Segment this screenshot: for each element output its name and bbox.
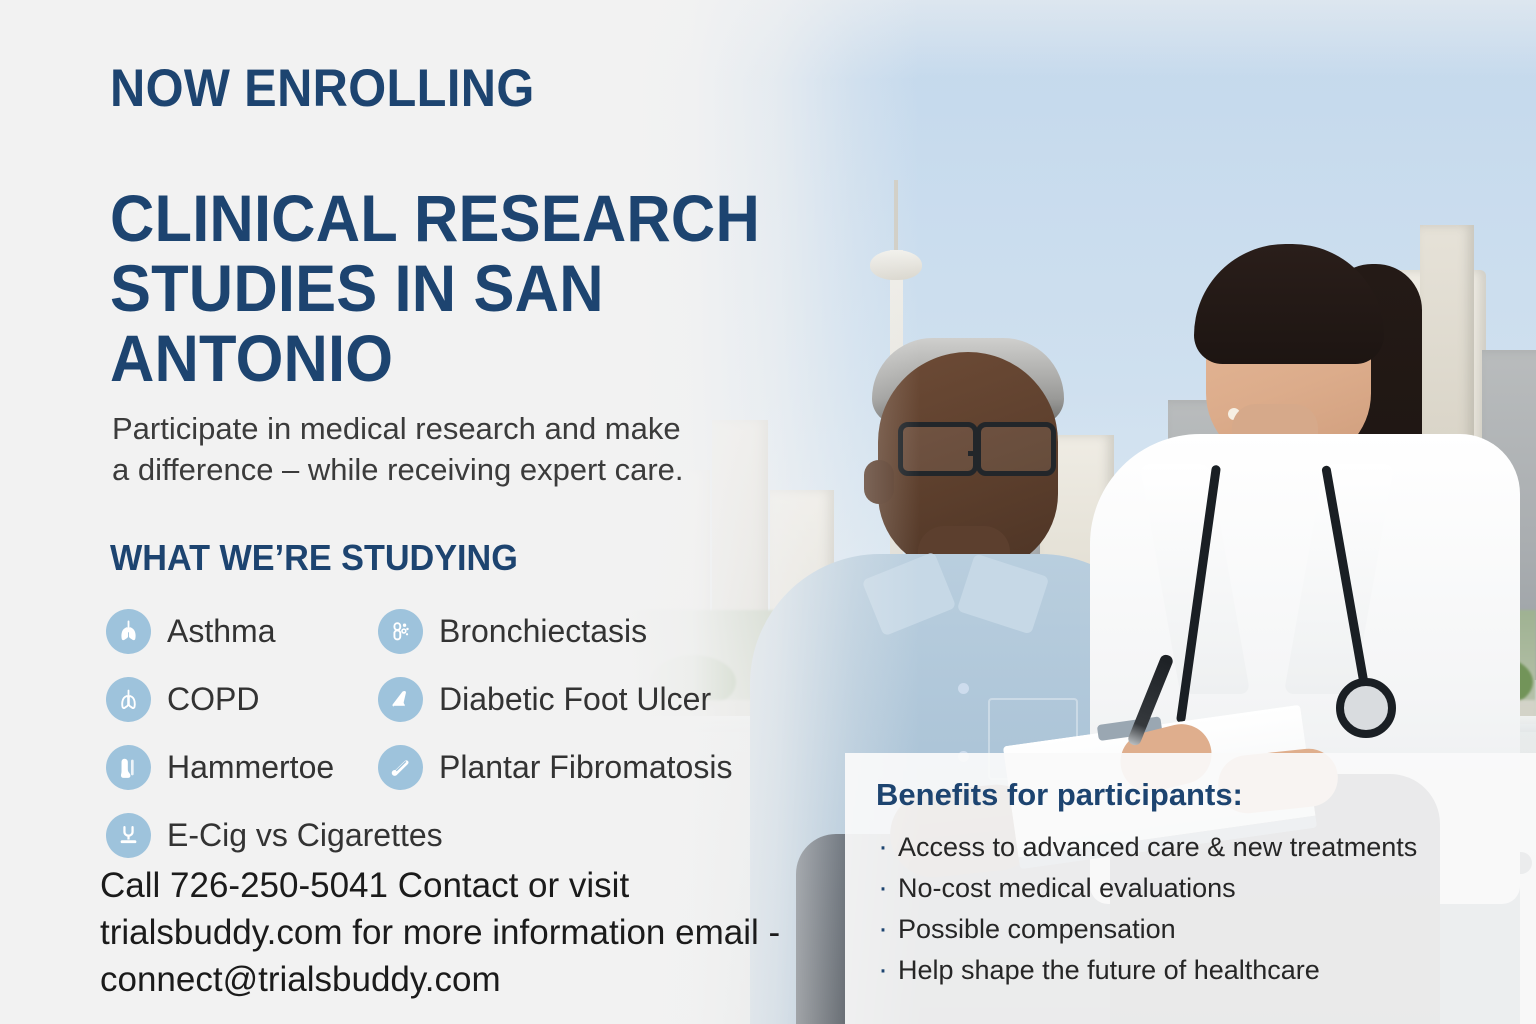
benefit-item: No-cost medical evaluations <box>876 868 1536 909</box>
condition-item-ecig-vs-cigarettes[interactable]: E-Cig vs Cigarettes <box>106 801 443 869</box>
condition-label: Hammertoe <box>167 749 334 786</box>
text-column: NOW ENROLLING CLINICAL RESEARCH STUDIES … <box>0 0 820 1024</box>
plantar-fascia-icon <box>378 745 423 790</box>
condition-label: Bronchiectasis <box>439 613 647 650</box>
condition-item-diabetic-foot-ulcer[interactable]: Diabetic Foot Ulcer <box>378 665 732 733</box>
condition-label: Diabetic Foot Ulcer <box>439 681 711 718</box>
lungs-icon <box>106 609 151 654</box>
condition-label: Asthma <box>167 613 275 650</box>
benefit-item: Help shape the future of healthcare <box>876 950 1536 991</box>
conditions-column-right: Bronchiectasis Diabetic Foot Ulcer <box>378 597 732 801</box>
foot-icon <box>106 745 151 790</box>
benefits-list: Access to advanced care & new treatments… <box>876 827 1536 991</box>
benefits-title: Benefits for participants: <box>876 777 1536 813</box>
condition-item-bronchiectasis[interactable]: Bronchiectasis <box>378 597 732 665</box>
condition-label: Plantar Fibromatosis <box>439 749 732 786</box>
contact-info[interactable]: Call 726-250-5041 Contact or visit trial… <box>100 863 800 1004</box>
condition-label: E-Cig vs Cigarettes <box>167 817 443 854</box>
studying-section-title: WHAT WE’RE STUDYING <box>110 537 518 579</box>
condition-item-plantar-fibromatosis[interactable]: Plantar Fibromatosis <box>378 733 732 801</box>
advertisement-poster: NOW ENROLLING CLINICAL RESEARCH STUDIES … <box>0 0 1536 1024</box>
benefit-item: Access to advanced care & new treatments <box>876 827 1536 868</box>
subheading-text: Participate in medical research and make… <box>112 409 692 491</box>
lungs-icon <box>106 677 151 722</box>
foot-profile-icon <box>378 677 423 722</box>
page-title: CLINICAL RESEARCH STUDIES IN SAN ANTONIO <box>110 184 780 394</box>
benefits-panel: Benefits for participants: Access to adv… <box>845 753 1536 1024</box>
airway-bacteria-icon <box>378 609 423 654</box>
condition-label: COPD <box>167 681 259 718</box>
eyebrow-label: NOW ENROLLING <box>110 62 535 115</box>
cigarette-ashtray-icon <box>106 813 151 858</box>
benefit-item: Possible compensation <box>876 909 1536 950</box>
